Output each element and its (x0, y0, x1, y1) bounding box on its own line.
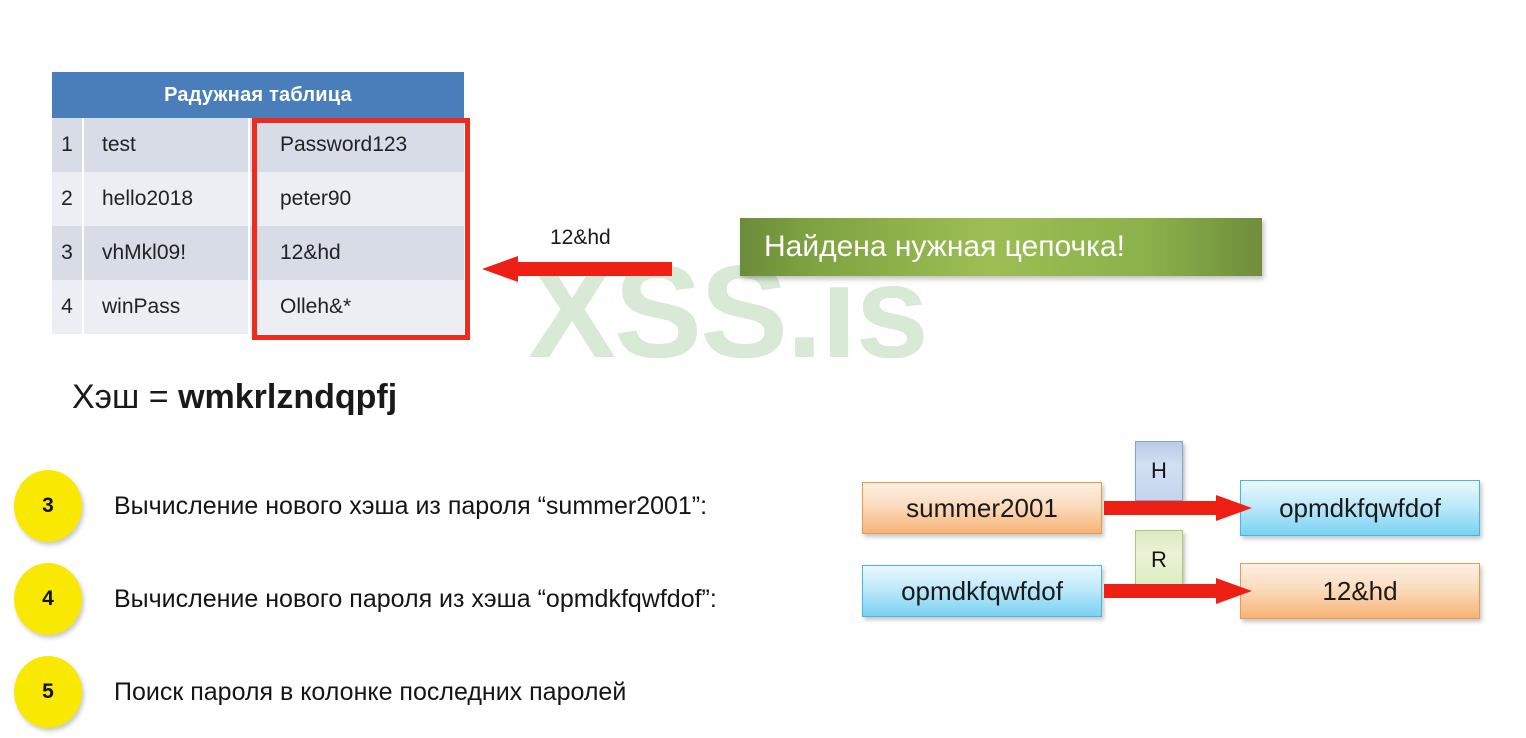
step-description: Вычисление нового хэша из пароля “summer… (114, 492, 707, 521)
row-index: 3 (52, 226, 82, 280)
row-index: 2 (52, 172, 82, 226)
step-number-badge: 5 (14, 656, 82, 728)
hash-line: Хэш = wmkrlzndqpfj (72, 378, 397, 417)
row-index: 4 (52, 280, 82, 334)
hash-arrow-right-icon (1104, 495, 1252, 521)
row-first-password: hello2018 (84, 172, 248, 226)
step-row-3: 3 Вычисление нового хэша из пароля “summ… (14, 470, 707, 542)
hash-label: Хэш = (72, 378, 178, 416)
step-number-badge: 4 (14, 563, 82, 635)
step-row-5: 5 Поиск пароля в колонке последних парол… (14, 656, 626, 728)
step-description: Вычисление нового пароля из хэша “opmdkf… (114, 585, 717, 614)
step-number-badge: 3 (14, 470, 82, 542)
hash-input-box: summer2001 (862, 482, 1102, 534)
matched-password-label: 12&hd (550, 226, 611, 250)
reduce-input-box: opmdkfqwfdof (862, 565, 1102, 617)
hash-output-box: opmdkfqwfdof (1240, 480, 1480, 536)
row-index: 1 (52, 118, 82, 172)
row-first-password: test (84, 118, 248, 172)
step-description: Поиск пароля в колонке последних паролей (114, 678, 626, 707)
row-first-password: winPass (84, 280, 248, 334)
row-first-password: vhMkl09! (84, 226, 248, 280)
reduce-arrow-right-icon (1104, 578, 1252, 604)
rainbow-table-title: Радужная таблица (52, 72, 464, 118)
chain-found-banner-text: Найдена нужная цепочка! (764, 230, 1125, 264)
hash-value: wmkrlzndqpfj (178, 378, 397, 416)
step-row-4: 4 Вычисление нового пароля из хэша “opmd… (14, 563, 717, 635)
chain-found-banner: Найдена нужная цепочка! (740, 218, 1262, 276)
hash-function-label: H (1135, 441, 1183, 501)
match-arrow-left-icon (482, 256, 672, 282)
last-password-column-highlight (252, 118, 470, 340)
reduce-output-box: 12&hd (1240, 563, 1480, 619)
